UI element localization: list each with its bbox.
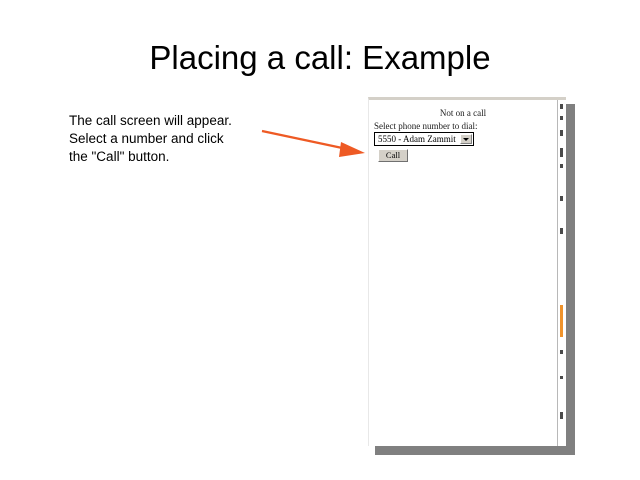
scrollbar-mark [560, 412, 563, 419]
slide-body-text: The call screen will appear. Select a nu… [69, 112, 279, 166]
scrollbar-thumb[interactable] [560, 305, 563, 337]
body-text-line: Select a number and click [69, 130, 279, 148]
body-text-line: the "Call" button. [69, 148, 279, 166]
scrollbar-mark [560, 376, 563, 379]
phone-number-select[interactable]: 5550 - Adam Zammit [374, 132, 474, 146]
chevron-down-icon[interactable] [460, 134, 472, 144]
scrollbar-mark [560, 104, 563, 109]
scrollbar-mark [560, 148, 563, 157]
phone-number-select-value: 5550 - Adam Zammit [378, 134, 456, 144]
call-button[interactable]: Call [378, 149, 408, 162]
app-client-area: Not on a call Select phone number to dia… [369, 100, 557, 446]
presentation-slide: Placing a call: Example The call screen … [0, 0, 640, 480]
phone-select-label: Select phone number to dial: [374, 121, 477, 131]
caret-glyph [463, 138, 469, 141]
body-text-line: The call screen will appear. [69, 112, 279, 130]
call-status-text: Not on a call [369, 108, 557, 118]
page-title: Placing a call: Example [0, 38, 640, 78]
scrollbar-mark [560, 350, 563, 354]
vertical-scrollbar[interactable] [557, 100, 566, 446]
scrollbar-mark [560, 196, 563, 201]
scrollbar-mark [560, 130, 563, 136]
scrollbar-mark [560, 116, 563, 120]
scrollbar-mark [560, 164, 563, 168]
scrollbar-mark [560, 228, 563, 234]
embedded-app-screenshot: Not on a call Select phone number to dia… [368, 97, 573, 452]
app-window: Not on a call Select phone number to dia… [368, 97, 566, 446]
